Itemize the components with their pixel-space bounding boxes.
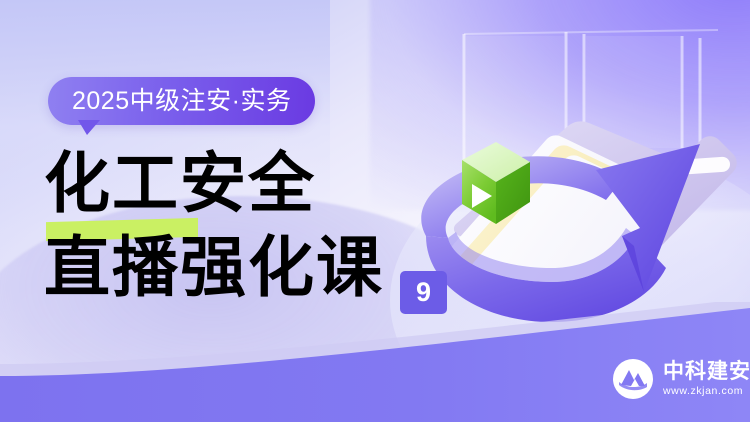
title-line-2: 直播强化课 bbox=[44, 236, 384, 302]
title-line-1: 化工安全 bbox=[44, 152, 316, 218]
brand-url: www.zkjan.com bbox=[663, 386, 750, 397]
title-line-1-row: 化工安全 bbox=[44, 148, 474, 222]
course-tag-badge: 2025中级注安·实务 bbox=[48, 77, 315, 125]
brand-name: 中科建安 bbox=[663, 361, 750, 382]
brand-logo: 中科建安 www.zkjan.com bbox=[612, 358, 750, 400]
brand-logo-text: 中科建安 www.zkjan.com bbox=[663, 361, 750, 397]
episode-number-badge: 9 bbox=[400, 271, 447, 314]
zkjan-mountain-logo-icon bbox=[612, 358, 654, 400]
course-tag-label: 2025中级注安·实务 bbox=[72, 89, 291, 114]
episode-number: 9 bbox=[416, 279, 431, 306]
course-tag-tail bbox=[78, 120, 100, 135]
course-promo-banner: 2025中级注安·实务 化工安全 直播强化课 9 中科建安 www.zkjan.… bbox=[0, 0, 750, 422]
